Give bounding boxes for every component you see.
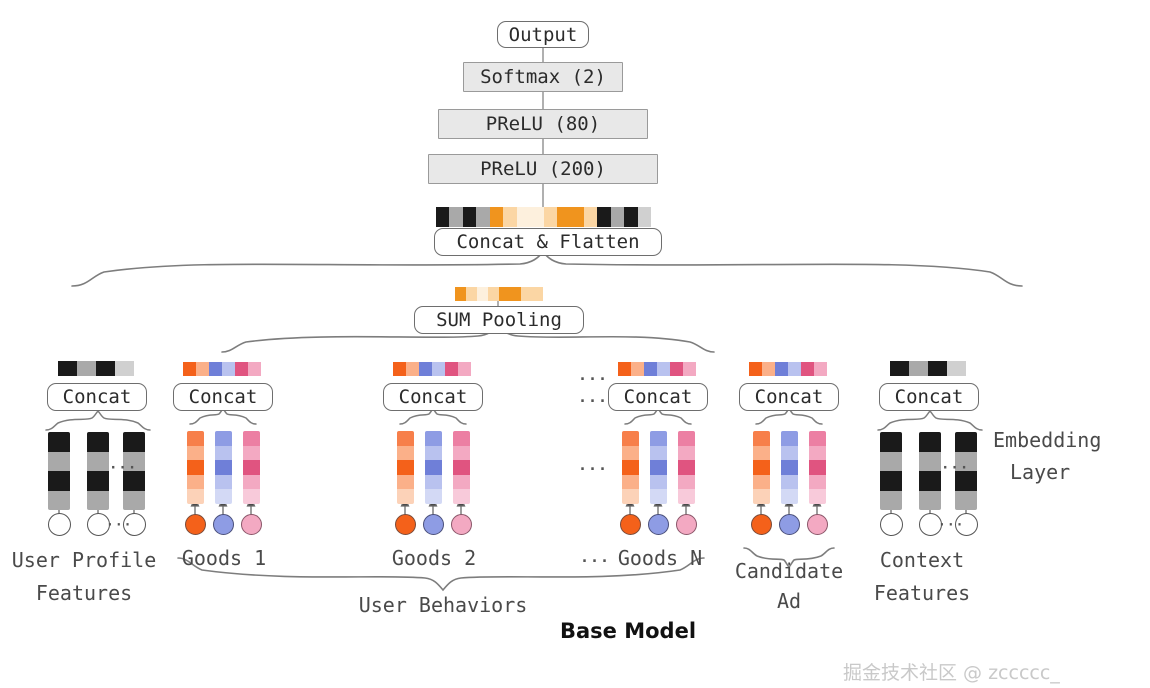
goods2-concat-label: Concat: [399, 386, 468, 408]
goods-sequence-ellipsis-caption: ···: [580, 552, 610, 570]
context-caption-line1: Context: [880, 548, 964, 572]
context-embedding-ellipsis: ···: [941, 460, 969, 476]
context-embedding-bar-1: [880, 432, 902, 510]
goods1-input-node-blue[interactable]: [213, 514, 234, 535]
goodsN-embedding-bar-pink: [678, 431, 695, 504]
sum-pooling-node[interactable]: SUM Pooling: [414, 306, 584, 334]
goods-sequence-ellipsis-mid: ···: [578, 392, 608, 410]
prelu200-node[interactable]: PReLU (200): [428, 154, 658, 184]
user-profile-caption-line1: User Profile: [12, 548, 157, 572]
candidate-ad-input-node-pink[interactable]: [807, 514, 828, 535]
goods-sequence-ellipsis-bottom: ···: [578, 460, 608, 478]
user-profile-concat-label: Concat: [63, 386, 132, 408]
goods-sequence-ellipsis-top: ···: [578, 370, 608, 388]
embedding-layer-label-line1: Embedding: [993, 428, 1101, 452]
user-profile-concat-strip: [58, 361, 134, 376]
embedding-layer-label-line2: Layer: [1010, 460, 1070, 484]
goods1-concat-node[interactable]: Concat: [173, 383, 273, 411]
context-concat-strip: [890, 361, 966, 376]
user-profile-embedding-bar-2: [87, 432, 109, 510]
candidate-ad-concat-label: Concat: [755, 386, 824, 408]
goods2-embedding-bar-orange: [397, 431, 414, 504]
user-profile-input-ellipsis: ···: [106, 518, 132, 533]
goods2-concat-strip: [393, 362, 471, 376]
user-profile-input-node-1[interactable]: [48, 513, 71, 536]
goods1-embedding-bar-orange: [187, 431, 204, 504]
goods1-input-node-orange[interactable]: [185, 514, 206, 535]
context-concat-node[interactable]: Concat: [879, 383, 979, 411]
brace-user-profile: [46, 411, 150, 430]
sum-pooling-label: SUM Pooling: [436, 309, 562, 331]
softmax-label: Softmax (2): [480, 66, 606, 88]
candidate-ad-caption-line1: Candidate: [735, 559, 843, 583]
pooling-feature-strip: [455, 287, 543, 301]
candidate-ad-concat-strip: [749, 362, 827, 376]
goods2-embedding-bar-blue: [425, 431, 442, 504]
goodsN-caption: Goods N: [618, 546, 702, 570]
prelu80-node[interactable]: PReLU (80): [438, 109, 648, 139]
output-label: Output: [509, 24, 578, 46]
flatten-feature-strip: [436, 207, 651, 227]
goodsN-concat-label: Concat: [624, 386, 693, 408]
candidate-ad-concat-node[interactable]: Concat: [739, 383, 839, 411]
goodsN-input-node-orange[interactable]: [620, 514, 641, 535]
concat-flatten-node[interactable]: Concat & Flatten: [434, 228, 662, 256]
goods2-concat-node[interactable]: Concat: [383, 383, 483, 411]
goodsN-concat-node[interactable]: Concat: [608, 383, 708, 411]
watermark: 掘金技术社区 @ zccccc_: [843, 658, 1060, 685]
user-profile-embedding-bar-1: [48, 432, 70, 510]
prelu80-label: PReLU (80): [486, 113, 600, 135]
output-node[interactable]: Output: [497, 21, 589, 48]
user-behaviors-label: User Behaviors: [359, 593, 528, 617]
goods2-embedding-bar-pink: [453, 431, 470, 504]
goods2-input-node-orange[interactable]: [395, 514, 416, 535]
candidate-ad-embedding-bar-orange: [753, 431, 770, 504]
candidate-ad-embedding-bar-blue: [781, 431, 798, 504]
goods2-input-node-pink[interactable]: [451, 514, 472, 535]
concat-flatten-label: Concat & Flatten: [456, 231, 639, 253]
goods1-caption: Goods 1: [182, 546, 266, 570]
user-profile-concat-node[interactable]: Concat: [47, 383, 147, 411]
goodsN-concat-strip: [618, 362, 696, 376]
goodsN-embedding-bar-blue: [650, 431, 667, 504]
goods1-concat-label: Concat: [189, 386, 258, 408]
goods1-embedding-bar-pink: [243, 431, 260, 504]
goods1-input-node-pink[interactable]: [241, 514, 262, 535]
figure-caption: Base Model: [560, 619, 696, 643]
connector-overlay: [0, 0, 1150, 688]
candidate-ad-embedding-bar-pink: [809, 431, 826, 504]
user-profile-caption-line2: Features: [36, 581, 132, 605]
context-concat-label: Concat: [895, 386, 964, 408]
candidate-ad-input-node-orange[interactable]: [751, 514, 772, 535]
context-caption-line2: Features: [874, 581, 970, 605]
brace-context: [878, 411, 982, 430]
context-embedding-bar-2: [919, 432, 941, 510]
context-input-node-1[interactable]: [880, 513, 903, 536]
candidate-ad-caption-line2: Ad: [777, 589, 801, 613]
goodsN-input-node-blue[interactable]: [648, 514, 669, 535]
goods2-caption: Goods 2: [392, 546, 476, 570]
goods2-input-node-blue[interactable]: [423, 514, 444, 535]
user-profile-embedding-ellipsis: ···: [109, 460, 137, 476]
brace-embedding-wide: [72, 252, 1022, 286]
goodsN-embedding-bar-orange: [622, 431, 639, 504]
diagram-canvas: Output Softmax (2) PReLU (80) PReLU (200…: [0, 0, 1150, 688]
goodsN-input-node-pink[interactable]: [676, 514, 697, 535]
context-input-ellipsis: ···: [938, 518, 964, 533]
prelu200-label: PReLU (200): [480, 158, 606, 180]
softmax-node[interactable]: Softmax (2): [463, 62, 623, 92]
goods1-embedding-bar-blue: [215, 431, 232, 504]
goods1-concat-strip: [183, 362, 261, 376]
candidate-ad-input-node-blue[interactable]: [779, 514, 800, 535]
